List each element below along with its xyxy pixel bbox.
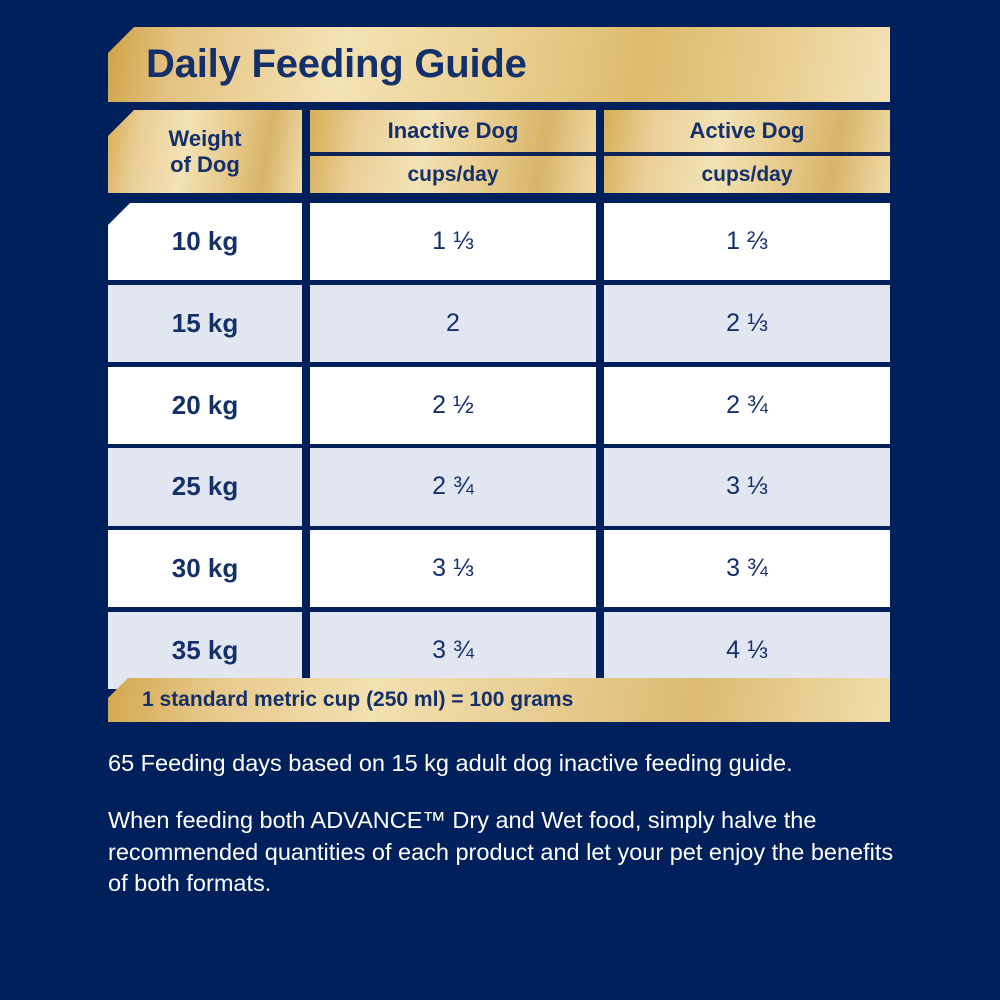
cell-active: 1 ⅔ — [604, 203, 890, 280]
cell-inactive: 2 — [310, 285, 596, 362]
cell-divider — [596, 285, 604, 362]
header-cell-weight: Weight of Dog — [108, 110, 302, 193]
cell-divider — [302, 367, 310, 444]
table-row: 35 kg 3 ¾ 4 ⅓ — [108, 612, 890, 689]
cell-inactive: 1 ⅓ — [310, 203, 596, 280]
cell-divider — [302, 612, 310, 689]
table-row: 30 kg 3 ⅓ 3 ¾ — [108, 530, 890, 607]
cell-inactive: 2 ½ — [310, 367, 596, 444]
cup-conversion-bar: 1 standard metric cup (250 ml) = 100 gra… — [108, 678, 890, 722]
cell-divider — [302, 203, 310, 280]
cell-active: 3 ⅓ — [604, 448, 890, 525]
header-inactive-unit: cups/day — [310, 156, 596, 193]
cell-active: 2 ¾ — [604, 367, 890, 444]
header-inactive-title: Inactive Dog — [310, 110, 596, 156]
cell-divider — [596, 367, 604, 444]
header-weight-line1: Weight — [169, 126, 242, 152]
note-mixed-feeding: When feeding both ADVANCE™ Dry and Wet f… — [108, 805, 898, 899]
notes-section: 65 Feeding days based on 15 kg adult dog… — [108, 748, 898, 926]
note-feeding-days: 65 Feeding days based on 15 kg adult dog… — [108, 748, 898, 779]
table-row: 25 kg 2 ¾ 3 ⅓ — [108, 448, 890, 525]
title-bar: Daily Feeding Guide — [108, 27, 890, 102]
header-active-title: Active Dog — [604, 110, 890, 156]
cell-active: 4 ⅓ — [604, 612, 890, 689]
cell-inactive: 3 ¾ — [310, 612, 596, 689]
table-row: 20 kg 2 ½ 2 ¾ — [108, 367, 890, 444]
header-weight-line2: of Dog — [170, 152, 240, 178]
header-active-unit: cups/day — [604, 156, 890, 193]
cell-weight: 10 kg — [108, 203, 302, 280]
table-row: 10 kg 1 ⅓ 1 ⅔ — [108, 203, 890, 280]
cup-conversion-text: 1 standard metric cup (250 ml) = 100 gra… — [142, 688, 573, 712]
table-header-row: Weight of Dog Inactive Dog cups/day Acti… — [108, 110, 890, 193]
cell-divider — [596, 203, 604, 280]
cell-divider — [596, 530, 604, 607]
cell-active: 3 ¾ — [604, 530, 890, 607]
cell-weight: 20 kg — [108, 367, 302, 444]
cell-weight: 35 kg — [108, 612, 302, 689]
cell-weight: 15 kg — [108, 285, 302, 362]
table-row: 15 kg 2 2 ⅓ — [108, 285, 890, 362]
feeding-guide-panel: Daily Feeding Guide Weight of Dog Inacti… — [0, 0, 1000, 1000]
cell-divider — [596, 612, 604, 689]
cell-divider — [596, 448, 604, 525]
cell-divider — [302, 285, 310, 362]
header-divider-1 — [302, 110, 310, 193]
feeding-table-body: 10 kg 1 ⅓ 1 ⅔ 15 kg 2 2 ⅓ 20 kg 2 ½ 2 ¾ … — [108, 203, 890, 666]
header-cell-active: Active Dog cups/day — [604, 110, 890, 193]
page-title: Daily Feeding Guide — [146, 42, 527, 87]
cell-divider — [302, 448, 310, 525]
cell-divider — [302, 530, 310, 607]
cell-weight: 25 kg — [108, 448, 302, 525]
header-cell-inactive: Inactive Dog cups/day — [310, 110, 596, 193]
cell-active: 2 ⅓ — [604, 285, 890, 362]
cell-weight: 30 kg — [108, 530, 302, 607]
cell-inactive: 3 ⅓ — [310, 530, 596, 607]
header-divider-2 — [596, 110, 604, 193]
cell-inactive: 2 ¾ — [310, 448, 596, 525]
